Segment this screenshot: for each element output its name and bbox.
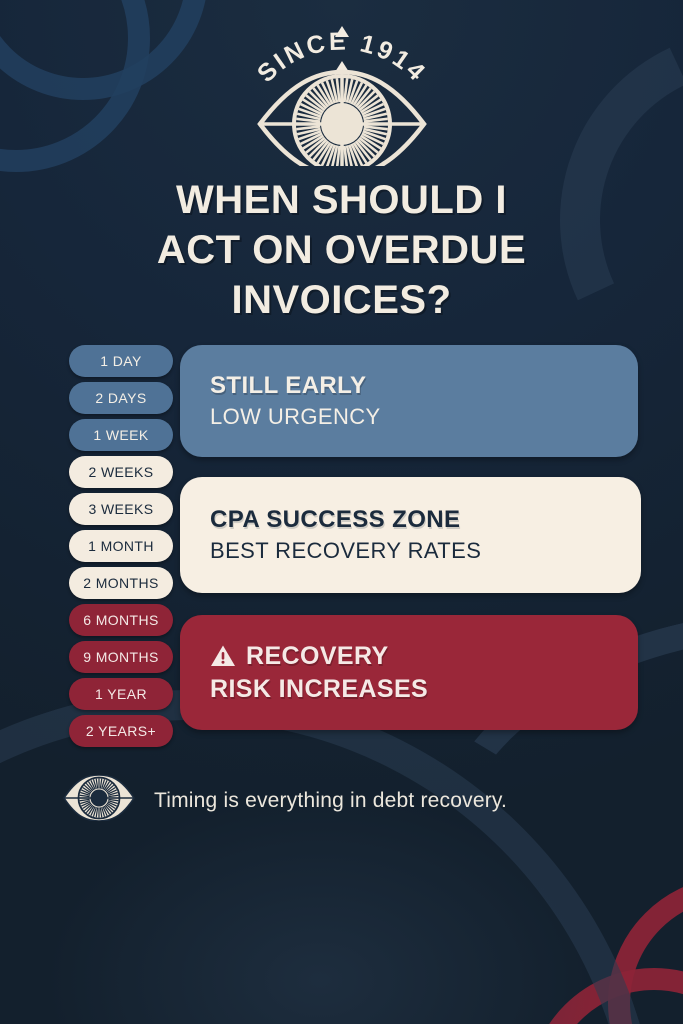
timeline-pill-label: 9 MONTHS — [83, 649, 159, 665]
timeline-pill-label: 3 WEEKS — [88, 501, 153, 517]
eye-pupil — [321, 103, 363, 145]
page-title: WHEN SHOULD I ACT ON OVERDUE INVOICES? — [40, 175, 643, 325]
footer: Timing is everything in debt recovery. — [62, 775, 507, 826]
title-line-3: INVOICES? — [40, 275, 643, 325]
timeline-pill-label: 2 DAYS — [95, 390, 146, 406]
timeline-pill[interactable]: 1 MONTH — [69, 530, 173, 562]
timeline-pill-label: 1 WEEK — [93, 427, 148, 443]
stage-subheading: BEST RECOVERY RATES — [210, 538, 641, 564]
timeline-pill[interactable]: 3 WEEKS — [69, 493, 173, 525]
timeline-pill[interactable]: 2 MONTHS — [69, 567, 173, 599]
timeline-pill-label: 2 YEARS+ — [86, 723, 156, 739]
footer-tagline: Timing is everything in debt recovery. — [154, 789, 507, 813]
timeline-pill[interactable]: 1 DAY — [69, 345, 173, 377]
stage-subheading: LOW URGENCY — [210, 404, 638, 430]
timeline-pill[interactable]: 2 YEARS+ — [69, 715, 173, 747]
timeline-pill[interactable]: 2 WEEKS — [69, 456, 173, 488]
warning-triangle-icon — [210, 644, 236, 668]
decor-ring-bottom-right-a — [608, 876, 683, 1024]
decor-swoosh-lower-mid — [0, 720, 683, 1024]
timeline-pill-label: 1 MONTH — [88, 538, 154, 554]
stage-heading: STILL EARLY — [210, 372, 638, 400]
stage-card-cpa-success-zone[interactable]: CPA SUCCESS ZONE BEST RECOVERY RATES — [180, 477, 641, 593]
eye-emblem-icon: SINCE 1914 — [222, 16, 462, 166]
infographic-poster: SINCE 1914 WHEN SHOUL — [0, 0, 683, 1024]
title-line-1: WHEN SHOULD I — [40, 175, 643, 225]
stage-subheading: RISK INCREASES — [210, 675, 638, 704]
timeline-pill[interactable]: 9 MONTHS — [69, 641, 173, 673]
timeline-pill-label: 1 DAY — [100, 353, 141, 369]
stage-heading: RECOVERY — [246, 642, 389, 671]
stage-heading-row: RECOVERY — [210, 642, 638, 671]
title-line-2: ACT ON OVERDUE — [40, 225, 643, 275]
timeline-pill[interactable]: 1 YEAR — [69, 678, 173, 710]
timeline-pill-label: 1 YEAR — [95, 686, 147, 702]
stage-card-recovery-risk[interactable]: RECOVERY RISK INCREASES — [180, 615, 638, 730]
stage-heading: CPA SUCCESS ZONE — [210, 506, 641, 534]
eye-icon — [62, 775, 136, 826]
timeline-pill-label: 6 MONTHS — [83, 612, 159, 628]
timeline-pill[interactable]: 6 MONTHS — [69, 604, 173, 636]
crest: SINCE 1914 — [0, 16, 683, 166]
timeline-pill-label: 2 MONTHS — [83, 575, 159, 591]
timeline-scale: 1 DAY2 DAYS1 WEEK2 WEEKS3 WEEKS1 MONTH2 … — [69, 345, 173, 752]
timeline-pill[interactable]: 2 DAYS — [69, 382, 173, 414]
decor-ring-bottom-right-b — [528, 968, 683, 1024]
timeline-pill[interactable]: 1 WEEK — [69, 419, 173, 451]
timeline-pill-label: 2 WEEKS — [88, 464, 153, 480]
stage-card-still-early[interactable]: STILL EARLY LOW URGENCY — [180, 345, 638, 457]
